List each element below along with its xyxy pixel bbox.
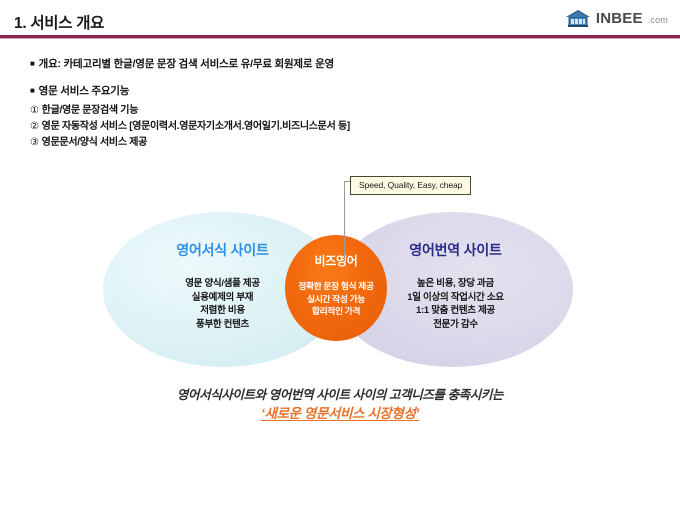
venn-center-line-2: 실시간 작성 가능 xyxy=(275,293,397,306)
venn-left-line-4: 풍부한 컨텐츠 xyxy=(105,318,340,332)
venn-center-line-3: 합리적인 가격 xyxy=(275,305,397,318)
conclusion-line-2: ‘새로운 영문서비스 시장형성’ xyxy=(0,404,680,424)
slide-canvas: 1. 서비스 개요 INBEE .com ■개요: 카테고리별 한글/영문 문장… xyxy=(0,0,680,510)
venn-center-title: 비즈영어 xyxy=(285,252,387,269)
conclusion-block: 영어서식사이트와 영어번역 사이트 사이의 고객니즈를 충족시키는 ‘새로운 영… xyxy=(0,386,680,424)
venn-center-line-1: 정확한 문장 형식 제공 xyxy=(275,280,397,293)
conclusion-line-1: 영어서식사이트와 영어번역 사이트 사이의 고객니즈를 충족시키는 xyxy=(0,386,680,404)
callout-box: Speed, Quality, Easy, cheap xyxy=(350,176,471,195)
venn-center-body: 정확한 문장 형식 제공 실시간 작성 가능 합리적인 가격 xyxy=(275,280,397,318)
venn-right-line-4: 전문가 감수 xyxy=(338,318,573,332)
venn-diagram: 영어서식 사이트 영문 양식/샘플 제공 실용예제의 부재 저렴한 비용 풍부한… xyxy=(0,0,680,510)
callout-leader-line xyxy=(344,181,345,261)
